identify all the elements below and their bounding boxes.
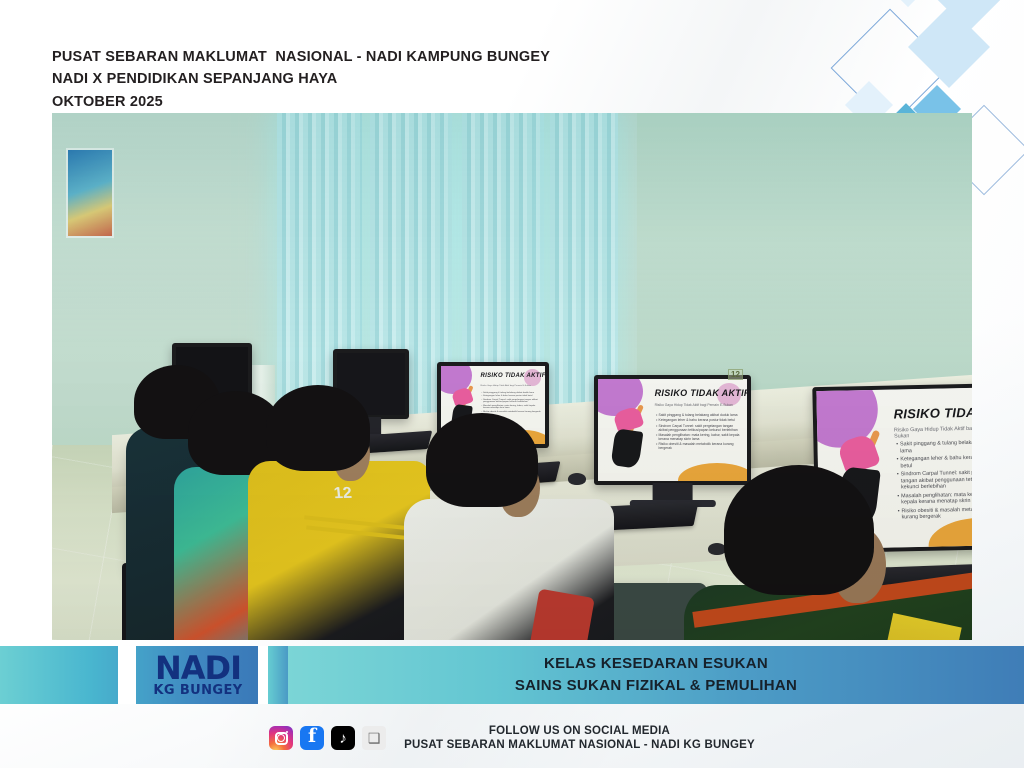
facebook-icon[interactable]: f xyxy=(300,726,324,750)
title-line-3: OKTOBER 2025 xyxy=(52,91,550,113)
follow-us-text: FOLLOW US ON SOCIAL MEDIA PUSAT SEBARAN … xyxy=(404,725,755,751)
slide-subtitle: Risiko Gaya Hidup Tidak Aktif bagi Pemai… xyxy=(481,385,540,387)
title-line-1: PUSAT SEBARAN MAKLUMAT NASIONAL - NADI K… xyxy=(52,46,550,68)
slide-bullet: Sakit pinggang & tulang belakang akibat … xyxy=(656,413,742,417)
slide-bullet: Masalah penglihatan: mata kering, kabur,… xyxy=(656,433,742,441)
slide-bullet: Sakit pinggang & tulang belakang akibat … xyxy=(896,439,972,454)
slide-bullet: Ketegangan leher & bahu kerana postur ti… xyxy=(656,418,742,422)
banner-gap xyxy=(118,646,136,704)
slide-bullet: Risiko obesiti & masalah metabolik keran… xyxy=(656,442,742,450)
broken-image-icon[interactable]: ❑ xyxy=(362,726,386,750)
slide-title: RISIKO TIDAK AKTIF xyxy=(893,404,972,422)
nadi-logo: NADI KG BUNGEY xyxy=(136,648,260,704)
student: TEAM xyxy=(684,465,972,640)
jersey-number: 12 xyxy=(333,485,353,503)
title-line-2: NADI X PENDIDIKAN SEPANJANG HAYA xyxy=(52,68,550,90)
slide-bullet: Sindrom Carpal Tunnel: sakit pergelangan… xyxy=(482,399,542,404)
tiktok-icon[interactable]: ♪ xyxy=(331,726,355,750)
slide-subtitle: Risiko Gaya Hidup Tidak Aktif bagi Pemai… xyxy=(894,425,972,439)
slide-bullets: Sakit pinggang & tulang belakang akibat … xyxy=(656,413,742,452)
student xyxy=(404,413,624,640)
slide-bullet: Masalah penglihatan: mata kering, kabur,… xyxy=(482,405,542,410)
banner-title-bar: KELAS KESEDARAN ESUKAN SAINS SUKAN FIZIK… xyxy=(288,646,1024,704)
slide-subtitle: Risiko Gaya Hidup Tidak Aktif bagi Pemai… xyxy=(655,403,740,407)
social-icons: f ♪ ❑ xyxy=(269,726,386,750)
wall-poster xyxy=(66,148,114,238)
desk-label-badge: 12 xyxy=(728,369,743,380)
social-media-row: f ♪ ❑ FOLLOW US ON SOCIAL MEDIA PUSAT SE… xyxy=(0,710,1024,766)
banner-title-line-2: SAINS SUKAN FIZIKAL & PEMULIHAN xyxy=(515,675,797,698)
slide-bullet: Ketegangan leher & bahu kerana postur ti… xyxy=(482,395,542,398)
slide-title: RISIKO TIDAK AKTIF xyxy=(481,373,543,379)
page-title: PUSAT SEBARAN MAKLUMAT NASIONAL - NADI K… xyxy=(52,46,550,113)
logo-name: NADI xyxy=(155,654,241,683)
follow-us-line-1: FOLLOW US ON SOCIAL MEDIA xyxy=(404,725,755,737)
instagram-icon[interactable] xyxy=(269,726,293,750)
computer-lab-photo: RISIKO TIDAK AKTIF Risiko Gaya Hidup Tid… xyxy=(52,113,972,640)
follow-us-line-2: PUSAT SEBARAN MAKLUMAT NASIONAL - NADI K… xyxy=(404,739,755,751)
slide-bullet: Sindrom Carpal Tunnel: sakit pergelangan… xyxy=(656,424,742,432)
slide-title: RISIKO TIDAK AKTIF xyxy=(655,388,744,398)
banner-title-line-1: KELAS KESEDARAN ESUKAN xyxy=(544,653,768,676)
diamond-shape xyxy=(877,0,939,7)
logo-subtitle: KG BUNGEY xyxy=(153,683,242,698)
slide-bullets: Sakit pinggang & tulang belakang akibat … xyxy=(482,392,542,415)
window-blinds xyxy=(550,113,618,419)
footer-banner: NADI KG BUNGEY KELAS KESEDARAN ESUKAN SA… xyxy=(0,646,1024,768)
slide-bullet: Sakit pinggang & tulang belakang akibat … xyxy=(482,392,542,395)
